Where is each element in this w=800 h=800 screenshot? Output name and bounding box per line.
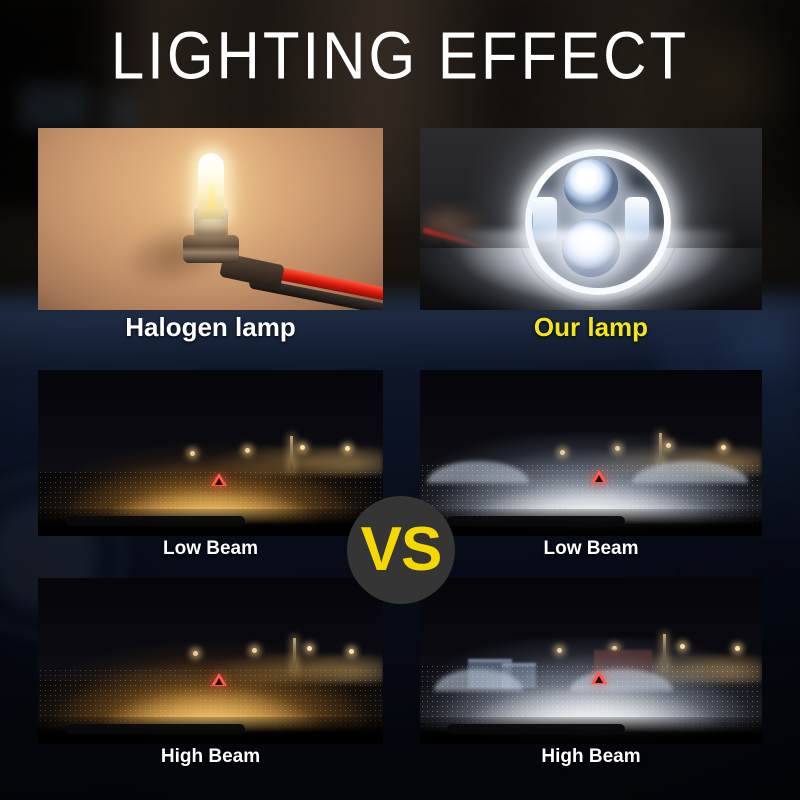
warning-triangle-icon bbox=[591, 470, 607, 483]
led-high-beam-card bbox=[420, 578, 762, 744]
halogen-low-beam-card bbox=[38, 370, 383, 536]
vs-label: VS bbox=[361, 519, 442, 581]
halogen-low-beam-photo bbox=[38, 370, 383, 536]
led-low-beam-photo bbox=[420, 370, 762, 536]
warning-triangle-icon bbox=[211, 473, 227, 486]
halogen-lamp-photo bbox=[38, 128, 383, 310]
halogen-base bbox=[183, 235, 239, 263]
led-headlight-photo bbox=[420, 128, 762, 310]
page-title: LIGHTING EFFECT bbox=[0, 18, 800, 94]
led-high-beam-photo bbox=[420, 578, 762, 744]
halogen-high-beam-photo bbox=[38, 578, 383, 744]
warning-triangle-icon bbox=[591, 671, 607, 684]
car-dashboard-silhouette bbox=[420, 509, 762, 536]
led-low-beam-caption: Low Beam bbox=[420, 538, 762, 560]
halogen-filament bbox=[208, 183, 215, 209]
our-lamp-card bbox=[420, 128, 762, 310]
led-high-beam-caption: High Beam bbox=[420, 746, 762, 768]
car-dashboard-silhouette bbox=[38, 717, 383, 744]
halogen-lamp-card bbox=[38, 128, 383, 310]
led-projector-lens-top bbox=[564, 159, 618, 213]
led-low-beam-card bbox=[420, 370, 762, 536]
car-dashboard-silhouette bbox=[420, 717, 762, 744]
vs-badge: VS bbox=[347, 496, 455, 604]
warning-triangle-icon bbox=[211, 673, 227, 686]
led-beam-spill bbox=[427, 230, 755, 310]
car-dashboard-silhouette bbox=[38, 509, 383, 536]
our-lamp-caption: Our lamp bbox=[420, 312, 762, 343]
halogen-lamp-caption: Halogen lamp bbox=[38, 312, 383, 343]
halogen-high-beam-caption: High Beam bbox=[38, 746, 383, 768]
halogen-high-beam-card bbox=[38, 578, 383, 744]
halogen-low-beam-caption: Low Beam bbox=[38, 538, 383, 560]
lighting-effect-infographic: LIGHTING EFFECT Halogen lamp bbox=[0, 0, 800, 800]
